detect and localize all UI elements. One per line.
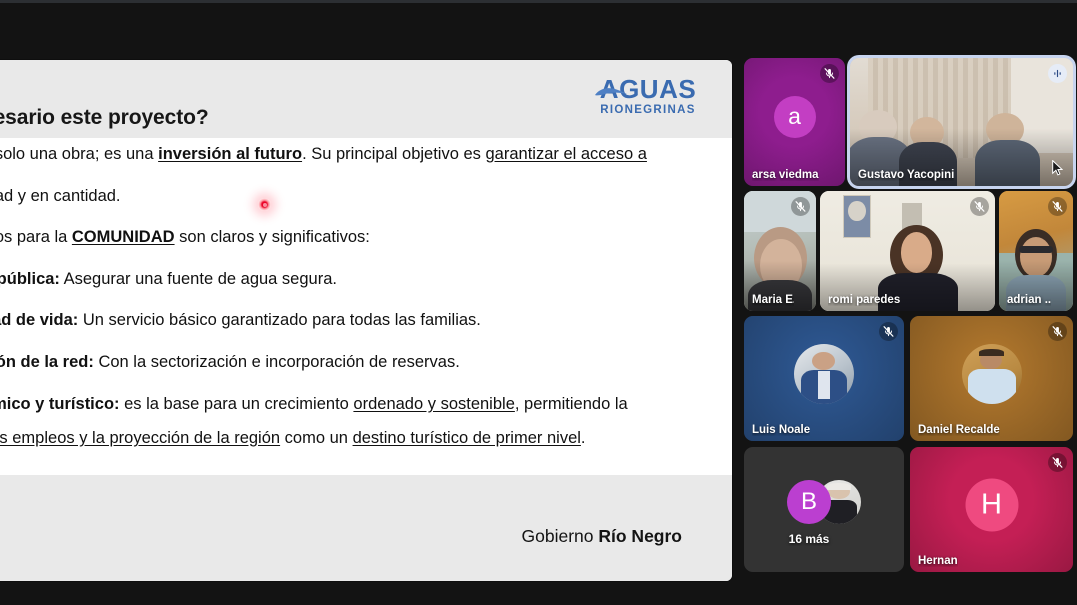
participant-name-maria-e: Maria E... xyxy=(752,294,794,306)
participant-name-more-participants: 16 más xyxy=(744,532,874,546)
avatar-initial-hernan: H xyxy=(965,478,1018,531)
participant-tile-luis-noale[interactable]: Luis Noale xyxy=(744,316,904,441)
slide-line-bullet-4b: vos empleos y la proyección de la región… xyxy=(0,428,732,449)
participant-tile-hernan[interactable]: HHernan xyxy=(910,447,1073,572)
mouse-cursor xyxy=(1052,160,1063,176)
participant-tile-maria-e[interactable]: Maria E... xyxy=(744,191,816,311)
slide-line-intro-1-part-0: s solo una obra; es una xyxy=(0,145,158,163)
participant-tile-grid: aarsa viedmaGustavo YacopiniMaria E...ro… xyxy=(740,58,1077,590)
avatar-initial-arsa-viedma: a xyxy=(774,96,816,138)
slide-line-bullet-1: d pública: Asegurar una fuente de agua s… xyxy=(0,269,732,290)
slide-line-intro-1: s solo una obra; es una inversión al fut… xyxy=(0,144,732,165)
avatar-photo-luis-noale xyxy=(794,344,854,404)
participant-tile-more-participants[interactable]: B16 más xyxy=(744,447,904,572)
slide-line-bullet-2-part-0: dad de vida: xyxy=(0,311,78,329)
logo-subtext: RIONEGRINAS xyxy=(594,105,702,117)
mic-muted-badge-luis-noale xyxy=(879,322,898,341)
slide-line-bullet-4-part-3: , permitiendo la xyxy=(515,395,628,413)
participant-name-hernan: Hernan xyxy=(918,555,958,567)
slide-line-intro-1-part-2: . Su principal objetivo es xyxy=(302,145,485,163)
mic-muted-badge-arsa-viedma xyxy=(820,64,839,83)
slide-footer-text: Gobierno Río Negro xyxy=(522,526,682,547)
logo-wordmark: AGUAS xyxy=(600,76,696,102)
slide-line-bullet-4: ómico y turístico: es la base para un cr… xyxy=(0,394,732,415)
mic-muted-badge-adrian xyxy=(1048,197,1067,216)
participant-name-adrian: adrian ... xyxy=(1007,294,1051,306)
participant-tile-gustavo-yacopini[interactable]: Gustavo Yacopini xyxy=(850,58,1073,186)
slide-line-bullet-2-part-1: Un servicio básico garantizado para toda… xyxy=(78,311,481,329)
participant-tile-arsa-viedma[interactable]: aarsa viedma xyxy=(744,58,845,186)
water-wave-icon xyxy=(594,86,628,98)
slide-line-bullet-1-part-0: d pública: xyxy=(0,270,60,288)
mic-muted-badge-hernan xyxy=(1048,453,1067,472)
mic-muted-icon xyxy=(1051,325,1064,338)
audio-level-icon xyxy=(1051,67,1064,80)
slide-line-intro-3-part-1: COMUNIDAD xyxy=(72,228,175,246)
participant-tile-adrian[interactable]: adrian ... xyxy=(999,191,1073,311)
slide-line-bullet-3-part-1: Con la sectorización e incorporación de … xyxy=(94,353,460,371)
participant-tile-romi-paredes[interactable]: romi paredes xyxy=(820,191,995,311)
footer-prefix: Gobierno xyxy=(522,526,599,546)
participant-name-arsa-viedma: arsa viedma xyxy=(752,169,819,181)
slide-title-text: cesario este proyecto? xyxy=(0,106,209,130)
participant-name-gustavo-yacopini: Gustavo Yacopini xyxy=(858,169,954,181)
slide-line-intro-2-part-0: idad y en cantidad. xyxy=(0,187,121,205)
slide-line-bullet-3: ción de la red: Con la sectorización e i… xyxy=(0,352,732,373)
screen-share-meeting-window: cesario este proyecto? AGUAS RIONEGRINAS… xyxy=(0,0,1077,605)
slide-line-bullet-4b-part-1: como un xyxy=(280,429,352,447)
mic-muted-badge-maria-e xyxy=(791,197,810,216)
participant-name-romi-paredes: romi paredes xyxy=(828,294,900,306)
aguas-rionegrinas-logo: AGUAS RIONEGRINAS xyxy=(594,76,702,117)
mic-muted-icon xyxy=(973,200,986,213)
mic-muted-icon xyxy=(882,325,895,338)
slide-footer-band: Gobierno Río Negro xyxy=(0,475,732,581)
slide-line-bullet-4b-part-2: destino turístico de primer nivel xyxy=(353,429,581,447)
window-top-strip xyxy=(0,0,1077,3)
mic-muted-icon xyxy=(794,200,807,213)
slide-line-bullet-4b-part-3: . xyxy=(581,429,586,447)
slide-body: s solo una obra; es una inversión al fut… xyxy=(0,138,732,469)
mic-muted-icon xyxy=(1051,200,1064,213)
participant-name-daniel-recalde: Daniel Recalde xyxy=(918,424,1000,436)
slide-line-intro-2: idad y en cantidad. xyxy=(0,186,732,207)
shared-slide[interactable]: cesario este proyecto? AGUAS RIONEGRINAS… xyxy=(0,60,732,581)
mic-muted-badge-daniel-recalde xyxy=(1048,322,1067,341)
slide-line-bullet-4-part-0: ómico y turístico: xyxy=(0,395,120,413)
slide-line-intro-1-part-3: garantizar el acceso a xyxy=(486,145,647,163)
overflow-avatar-stack: B xyxy=(787,480,861,524)
slide-line-bullet-3-part-0: ción de la red: xyxy=(0,353,94,371)
slide-line-bullet-4b-part-0: vos empleos y la proyección de la región xyxy=(0,429,280,447)
mic-muted-icon xyxy=(1051,456,1064,469)
slide-line-bullet-2: dad de vida: Un servicio básico garantiz… xyxy=(0,310,732,331)
mic-muted-icon xyxy=(823,67,836,80)
overflow-avatar-initial: B xyxy=(787,480,831,524)
mic-muted-badge-romi-paredes xyxy=(970,197,989,216)
speaking-indicator-gustavo-yacopini xyxy=(1048,64,1067,83)
slide-line-bullet-4-part-1: es la base para un crecimiento xyxy=(120,395,354,413)
participant-name-luis-noale: Luis Noale xyxy=(752,424,810,436)
avatar-photo-daniel-recalde xyxy=(962,344,1022,404)
slide-line-bullet-1-part-1: Asegurar una fuente de agua segura. xyxy=(60,270,337,288)
slide-line-bullet-4-part-2: ordenado y sostenible xyxy=(353,395,514,413)
footer-brand: Río Negro xyxy=(598,526,682,546)
slide-line-intro-3-part-2: son claros y significativos: xyxy=(175,228,370,246)
slide-line-intro-1-part-1: inversión al futuro xyxy=(158,145,302,163)
slide-line-intro-3: ctos para la COMUNIDAD son claros y sign… xyxy=(0,227,732,248)
slide-line-intro-3-part-0: ctos para la xyxy=(0,228,72,246)
laser-pointer-dot xyxy=(258,198,271,211)
participant-tile-daniel-recalde[interactable]: Daniel Recalde xyxy=(910,316,1073,441)
